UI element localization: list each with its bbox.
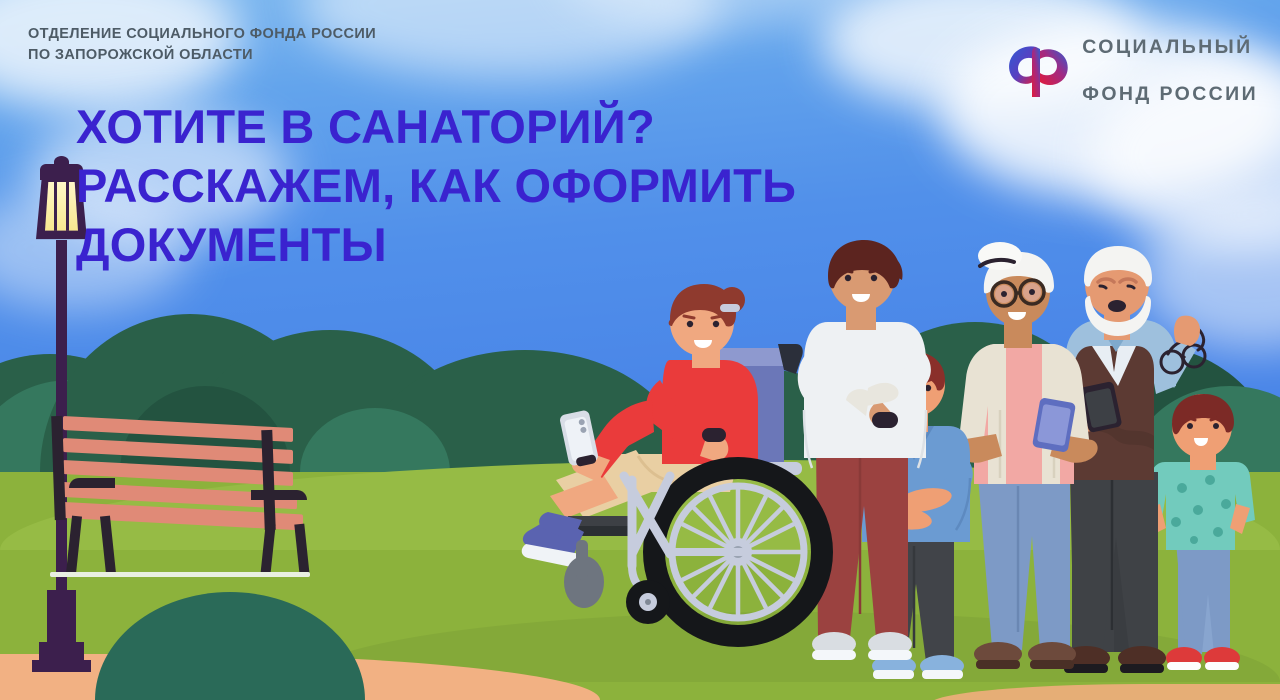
- sfr-logo-icon: [1006, 43, 1068, 99]
- sfr-brand-lockup: СОЦИАЛЬНЫЙ ФОНД РОССИИ: [1006, 12, 1258, 131]
- org-name-line-1: ОТДЕЛЕНИЕ СОЦИАЛЬНОГО ФОНДА РОССИИ: [28, 24, 548, 45]
- poster-canvas: ОТДЕЛЕНИЕ СОЦИАЛЬНОГО ФОНДА РОССИИ ПО ЗА…: [0, 0, 1280, 700]
- sfr-brand-name-line-2: ФОНД РОССИИ: [1082, 83, 1258, 107]
- sfr-brand-name-line-1: СОЦИАЛЬНЫЙ: [1082, 36, 1258, 60]
- figure-woman-in-wheelchair: [520, 330, 880, 682]
- headline-line-3: ДОКУМЕНТЫ: [76, 215, 976, 274]
- headline-line-2: РАССКАЖЕМ, КАК ОФОРМИТЬ: [76, 156, 976, 215]
- headline: ХОТИТЕ В САНАТОРИЙ? РАССКАЖЕМ, КАК ОФОРМ…: [76, 97, 976, 275]
- org-name: ОТДЕЛЕНИЕ СОЦИАЛЬНОГО ФОНДА РОССИИ ПО ЗА…: [28, 24, 548, 65]
- headline-line-1: ХОТИТЕ В САНАТОРИЙ?: [76, 97, 976, 156]
- sfr-brand-name: СОЦИАЛЬНЫЙ ФОНД РОССИИ: [1082, 12, 1258, 131]
- org-name-line-2: ПО ЗАПОРОЖСКОЙ ОБЛАСТИ: [28, 45, 548, 66]
